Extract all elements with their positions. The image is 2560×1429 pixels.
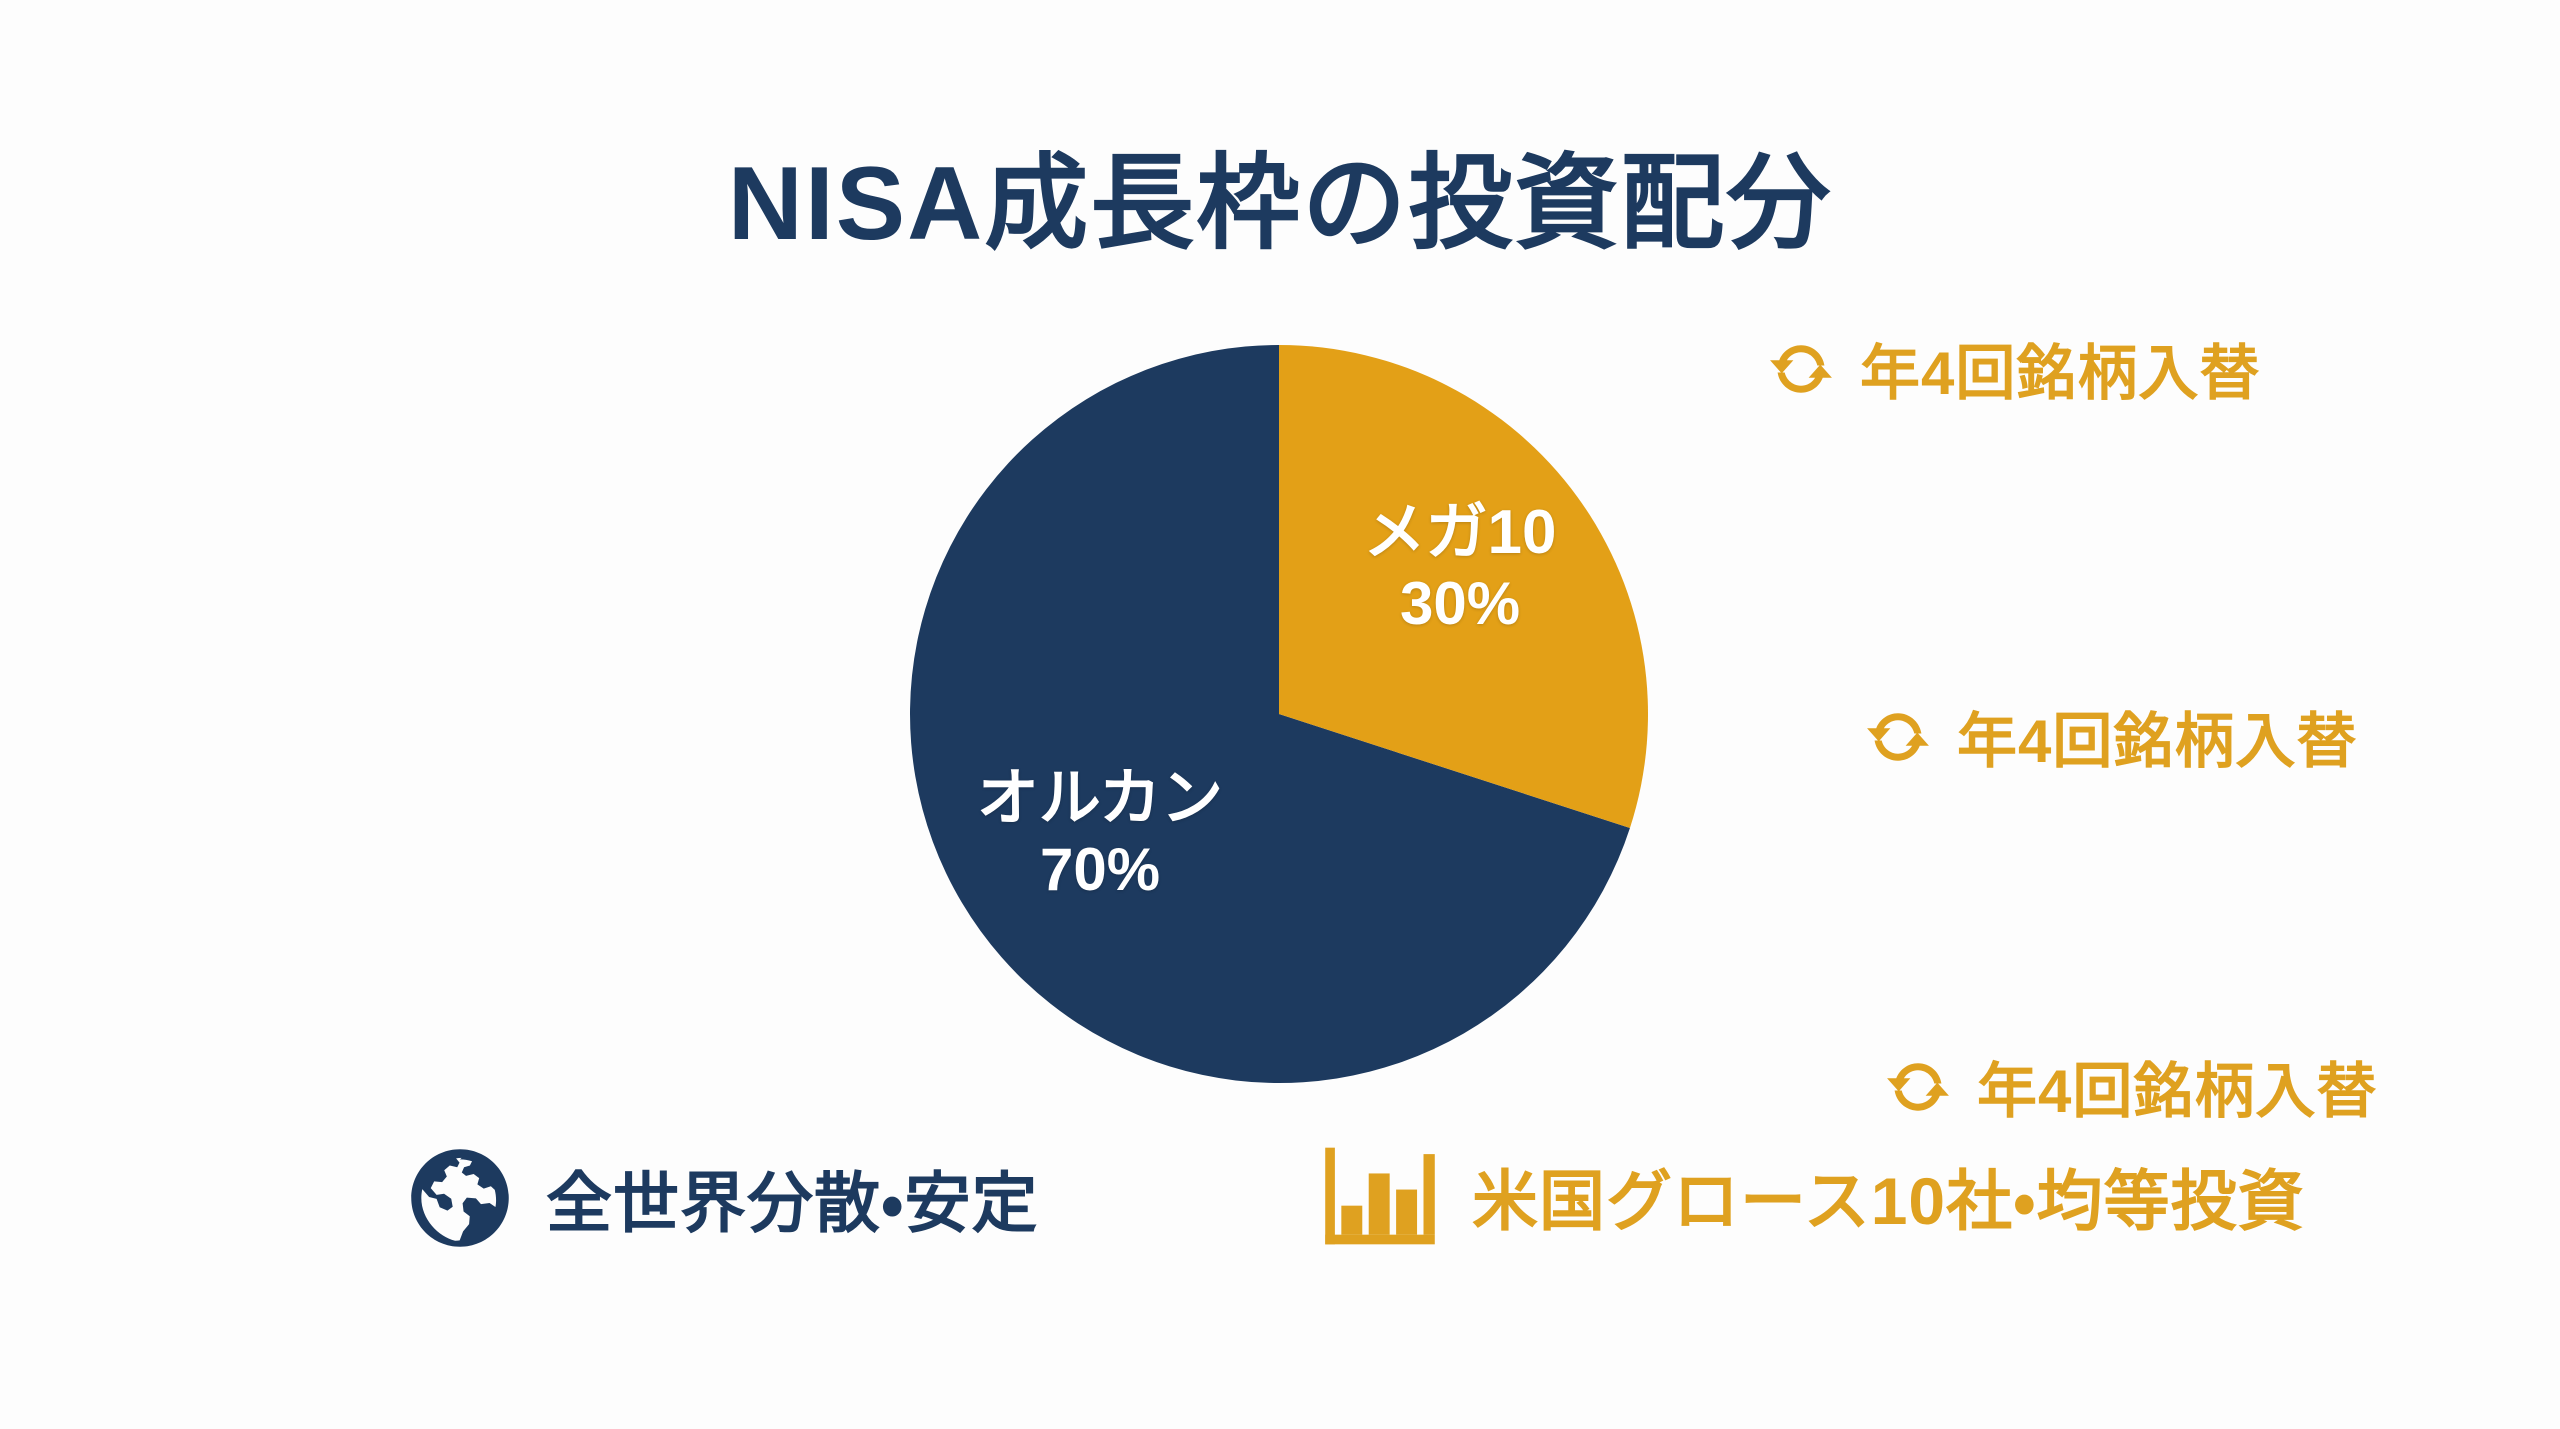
legend-item-global: 全世界分散・安定: [408, 1146, 1038, 1250]
pie-label-orukan-pct: 70%: [930, 835, 1270, 905]
legend-item-global-label: 全世界分散・安定: [546, 1150, 1038, 1246]
legend-item-us-growth: 米国グロース10社・均等投資: [1322, 1144, 2305, 1248]
pie-chart-svg: [910, 345, 1648, 1083]
pie-chart: メガ10 30% オルカン 70%: [910, 345, 1648, 1083]
pie-label-orukan-name: オルカン: [977, 764, 1223, 833]
refresh-icon: [1885, 1054, 1951, 1120]
slide-canvas: NISA成長枠の投資配分 メガ10 30% オルカン 70% 年4回銘柄入替: [0, 0, 2560, 1429]
pie-label-orukan: オルカン 70%: [930, 763, 1270, 905]
pie-label-mega10-pct: 30%: [1310, 569, 1610, 639]
rotation-note-2: 年4回銘柄入替: [1865, 693, 2357, 780]
legend-item-us-growth-label: 米国グロース10社・均等投資: [1472, 1148, 2305, 1244]
page-title: NISA成長枠の投資配分: [0, 118, 2560, 269]
rotation-note-3-label: 年4回銘柄入替: [1977, 1043, 2377, 1130]
bar-chart-icon: [1322, 1144, 1438, 1248]
rotation-note-1: 年4回銘柄入替: [1768, 325, 2260, 412]
pie-label-mega10-name: メガ10: [1364, 498, 1557, 567]
rotation-note-1-label: 年4回銘柄入替: [1860, 325, 2260, 412]
globe-icon: [408, 1146, 512, 1250]
pie-label-mega10: メガ10 30%: [1310, 497, 1610, 639]
rotation-note-3: 年4回銘柄入替: [1885, 1043, 2377, 1130]
refresh-icon: [1768, 336, 1834, 402]
refresh-icon: [1865, 704, 1931, 770]
rotation-note-2-label: 年4回銘柄入替: [1957, 693, 2357, 780]
